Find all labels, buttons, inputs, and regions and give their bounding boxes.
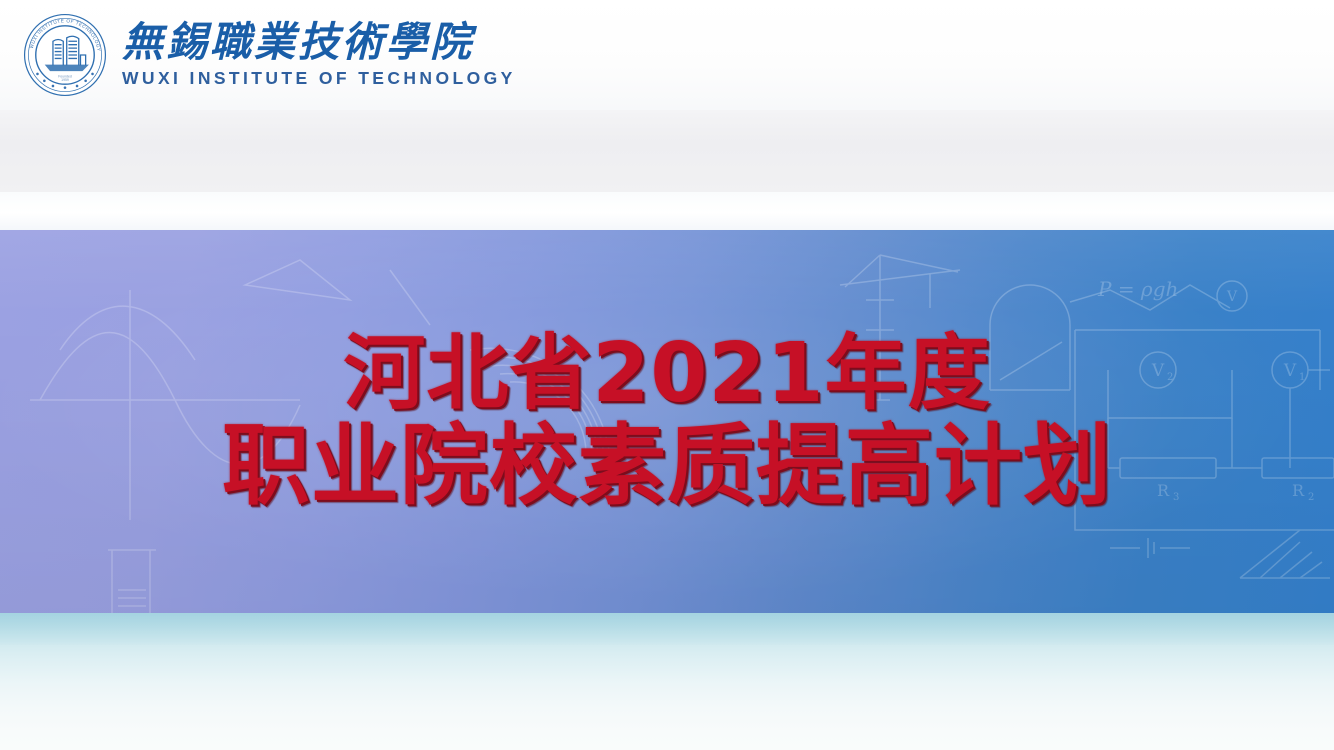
university-seal-icon: WUXI INSTITUTE OF TECHNOLOGY bbox=[22, 12, 108, 98]
header-bar: WUXI INSTITUTE OF TECHNOLOGY bbox=[0, 0, 1334, 110]
title-banner: V bbox=[0, 230, 1334, 613]
institution-name-en: WUXI INSTITUTE OF TECHNOLOGY bbox=[122, 70, 516, 88]
header-separator-band bbox=[0, 110, 1334, 192]
footer-sheen-strip bbox=[0, 613, 1334, 645]
banner-title-line-2: 职业院校素质提高计划 bbox=[222, 421, 1112, 511]
institution-name-cn: 無錫職業技術學院 bbox=[122, 22, 516, 63]
banner-title-line-1: 河北省2021年度 bbox=[343, 332, 990, 416]
svg-text:1959: 1959 bbox=[61, 78, 69, 82]
banner-title-group: 河北省2021年度 职业院校素质提高计划 bbox=[0, 230, 1334, 613]
wordmark: 無錫職業技術學院 WUXI INSTITUTE OF TECHNOLOGY bbox=[122, 22, 516, 88]
header-separator-band-lower bbox=[0, 192, 1334, 230]
slide-screen: WUXI INSTITUTE OF TECHNOLOGY bbox=[0, 0, 1334, 750]
